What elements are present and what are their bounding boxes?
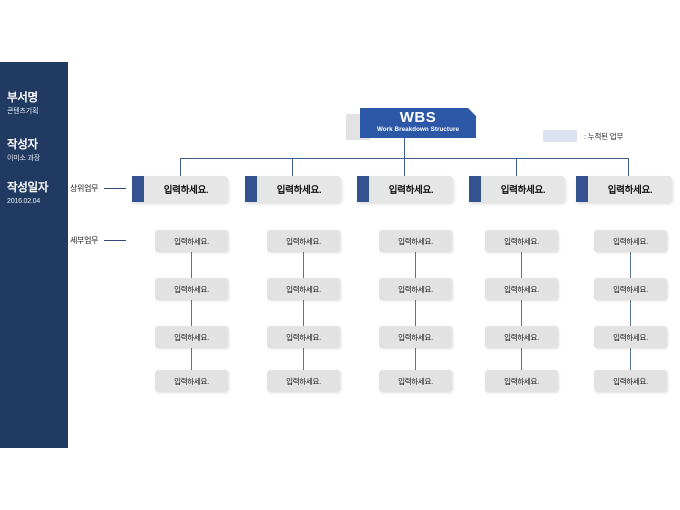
sub-connector xyxy=(191,252,192,278)
top-task-box[interactable]: 입력하세요. xyxy=(245,176,341,202)
sub-task-label: 입력하세요. xyxy=(613,284,648,295)
sub-task-label: 입력하세요. xyxy=(174,236,209,247)
wbs-slide: 부서명 콘텐츠기획 작성자 이미소 과장 작성일자 2016.02.04 WBS… xyxy=(0,0,680,510)
top-task-label: 입력하세요. xyxy=(588,176,672,202)
connector-drop-4 xyxy=(516,158,517,176)
connector-drop-1 xyxy=(180,158,181,176)
author-title: 작성자 xyxy=(7,139,67,152)
row-label-sub-task: 세부업무 xyxy=(70,235,126,246)
sub-task-box[interactable]: 입력하세요. xyxy=(155,370,228,392)
sub-task-box[interactable]: 입력하세요. xyxy=(379,370,452,392)
sub-task-label: 입력하세요. xyxy=(174,376,209,387)
sub-task-label: 입력하세요. xyxy=(174,332,209,343)
sub-task-box[interactable]: 입력하세요. xyxy=(379,278,452,300)
sub-task-label: 입력하세요. xyxy=(398,236,433,247)
sub-task-box[interactable]: 입력하세요. xyxy=(155,278,228,300)
author-value: 이미소 과장 xyxy=(7,154,67,164)
sidebar: 부서명 콘텐츠기획 작성자 이미소 과장 작성일자 2016.02.04 xyxy=(0,62,68,448)
top-task-accent xyxy=(245,176,257,202)
top-task-accent xyxy=(132,176,144,202)
sub-task-box[interactable]: 입력하세요. xyxy=(485,230,558,252)
sub-task-box[interactable]: 입력하세요. xyxy=(379,326,452,348)
sub-task-box[interactable]: 입력하세요. xyxy=(267,326,340,348)
sub-task-label: 입력하세요. xyxy=(398,332,433,343)
connector-stem xyxy=(404,138,405,158)
row-label-top-task: 상위업무 xyxy=(70,183,126,194)
sub-connector xyxy=(303,252,304,278)
top-task-accent xyxy=(357,176,369,202)
sub-task-label: 입력하세요. xyxy=(504,332,539,343)
sub-task-label: 입력하세요. xyxy=(504,376,539,387)
sidebar-block-author: 작성자 이미소 과장 xyxy=(7,139,67,164)
sub-task-label: 입력하세요. xyxy=(286,332,321,343)
sub-task-box[interactable]: 입력하세요. xyxy=(155,230,228,252)
top-task-accent xyxy=(469,176,481,202)
sub-connector xyxy=(630,252,631,278)
sub-task-box[interactable]: 입력하세요. xyxy=(155,326,228,348)
top-task-box[interactable]: 입력하세요. xyxy=(576,176,672,202)
department-value: 콘텐츠기획 xyxy=(7,107,67,117)
sub-task-label: 입력하세요. xyxy=(286,376,321,387)
sub-task-box[interactable]: 입력하세요. xyxy=(485,326,558,348)
sub-connector xyxy=(303,300,304,326)
sub-connector xyxy=(415,348,416,370)
sidebar-block-department: 부서명 콘텐츠기획 xyxy=(7,92,67,117)
row-label-sub-dash xyxy=(104,240,126,241)
sub-task-box[interactable]: 입력하세요. xyxy=(267,278,340,300)
sub-connector xyxy=(521,348,522,370)
sub-connector xyxy=(521,300,522,326)
sub-connector xyxy=(415,300,416,326)
top-task-label: 입력하세요. xyxy=(257,176,341,202)
sub-task-box[interactable]: 입력하세요. xyxy=(594,370,667,392)
top-task-label: 입력하세요. xyxy=(481,176,565,202)
sub-task-box[interactable]: 입력하세요. xyxy=(594,230,667,252)
sub-task-box[interactable]: 입력하세요. xyxy=(267,370,340,392)
connector-drop-3 xyxy=(404,158,405,176)
sub-connector xyxy=(630,348,631,370)
top-task-label: 입력하세요. xyxy=(369,176,453,202)
top-task-label: 입력하세요. xyxy=(144,176,228,202)
sidebar-block-date: 작성일자 2016.02.04 xyxy=(7,182,67,207)
sub-connector xyxy=(521,252,522,278)
sub-connector xyxy=(630,300,631,326)
sub-task-label: 입력하세요. xyxy=(504,284,539,295)
sub-task-box[interactable]: 입력하세요. xyxy=(379,230,452,252)
connector-drop-2 xyxy=(292,158,293,176)
connector-drop-5 xyxy=(628,158,629,176)
top-task-box[interactable]: 입력하세요. xyxy=(357,176,453,202)
legend-label: : 누적된 업무 xyxy=(584,131,623,142)
row-label-top-dash xyxy=(104,188,126,189)
sub-task-box[interactable]: 입력하세요. xyxy=(485,278,558,300)
sub-connector xyxy=(415,252,416,278)
wbs-title: WBS xyxy=(360,110,476,126)
sub-task-label: 입력하세요. xyxy=(504,236,539,247)
sub-task-label: 입력하세요. xyxy=(174,284,209,295)
sub-task-label: 입력하세요. xyxy=(286,284,321,295)
row-label-sub-task-text: 세부업무 xyxy=(70,235,98,246)
wbs-banner-body: WBS Work Breakdown Structure xyxy=(360,108,476,138)
date-value: 2016.02.04 xyxy=(7,197,67,207)
legend-swatch xyxy=(543,130,577,142)
sub-task-label: 입력하세요. xyxy=(286,236,321,247)
sub-task-label: 입력하세요. xyxy=(613,332,648,343)
sub-task-label: 입력하세요. xyxy=(398,376,433,387)
sub-task-box[interactable]: 입력하세요. xyxy=(594,326,667,348)
sub-task-box[interactable]: 입력하세요. xyxy=(594,278,667,300)
legend: : 누적된 업무 xyxy=(543,130,623,142)
date-title: 작성일자 xyxy=(7,182,67,195)
row-label-top-task-text: 상위업무 xyxy=(70,183,98,194)
top-task-box[interactable]: 입력하세요. xyxy=(469,176,565,202)
sub-task-box[interactable]: 입력하세요. xyxy=(267,230,340,252)
department-title: 부서명 xyxy=(7,92,67,105)
sub-task-label: 입력하세요. xyxy=(398,284,433,295)
top-task-box[interactable]: 입력하세요. xyxy=(132,176,228,202)
sub-task-label: 입력하세요. xyxy=(613,376,648,387)
sub-connector xyxy=(303,348,304,370)
sub-connector xyxy=(191,348,192,370)
sub-task-label: 입력하세요. xyxy=(613,236,648,247)
wbs-subtitle: Work Breakdown Structure xyxy=(360,126,476,134)
sub-connector xyxy=(191,300,192,326)
wbs-banner: WBS Work Breakdown Structure xyxy=(346,108,476,140)
top-task-accent xyxy=(576,176,588,202)
sub-task-box[interactable]: 입력하세요. xyxy=(485,370,558,392)
